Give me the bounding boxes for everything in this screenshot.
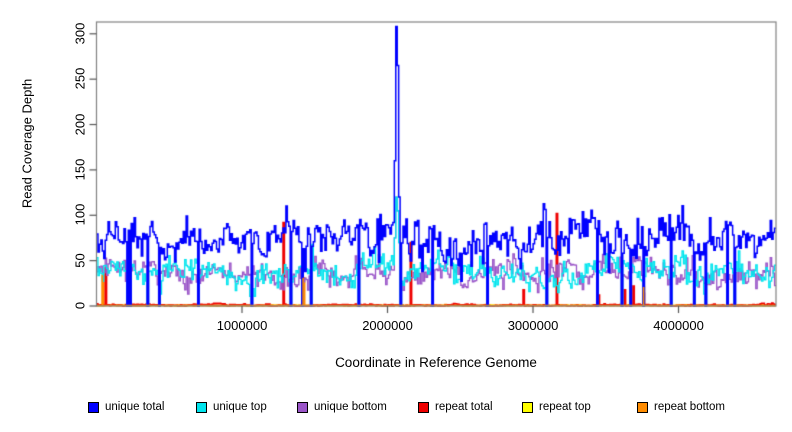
y-tick-label: 150 — [72, 156, 87, 182]
legend-swatch-icon — [637, 402, 648, 413]
legend-item-repeat-top: repeat top — [522, 398, 591, 416]
y-tick-label: 250 — [72, 66, 87, 92]
legend-label: unique bottom — [314, 402, 387, 413]
y-tick-label: 100 — [72, 202, 87, 228]
x-tick-label: 3000000 — [508, 318, 559, 333]
x-tick-label: 1000000 — [217, 318, 268, 333]
y-tick-label: 300 — [72, 20, 87, 46]
chart-figure: Read Coverage Depth Coordinate in Refere… — [0, 0, 792, 432]
x-axis-title: Coordinate in Reference Genome — [96, 355, 776, 370]
legend-swatch-icon — [522, 402, 533, 413]
x-tick-label: 4000000 — [653, 318, 704, 333]
legend-item-unique-total: unique total — [88, 398, 164, 416]
y-axis-title: Read Coverage Depth — [20, 54, 35, 234]
legend-swatch-icon — [418, 402, 429, 413]
y-tick-label: 0 — [72, 293, 87, 319]
legend-item-unique-top: unique top — [196, 398, 267, 416]
legend-item-repeat-bottom: repeat bottom — [637, 398, 725, 416]
legend-label: unique total — [105, 402, 164, 413]
legend-swatch-icon — [297, 402, 308, 413]
legend-swatch-icon — [196, 402, 207, 413]
legend-swatch-icon — [88, 402, 99, 413]
y-tick-label: 200 — [72, 111, 87, 137]
legend-label: unique top — [213, 402, 267, 413]
legend-item-unique-bottom: unique bottom — [297, 398, 387, 416]
legend-label: repeat total — [435, 402, 493, 413]
legend-item-repeat-total: repeat total — [418, 398, 493, 416]
x-tick-label: 2000000 — [362, 318, 413, 333]
chart-legend: unique totalunique topunique bottomrepea… — [0, 398, 792, 418]
legend-label: repeat top — [539, 402, 591, 413]
y-tick-label: 50 — [72, 247, 87, 273]
legend-label: repeat bottom — [654, 402, 725, 413]
